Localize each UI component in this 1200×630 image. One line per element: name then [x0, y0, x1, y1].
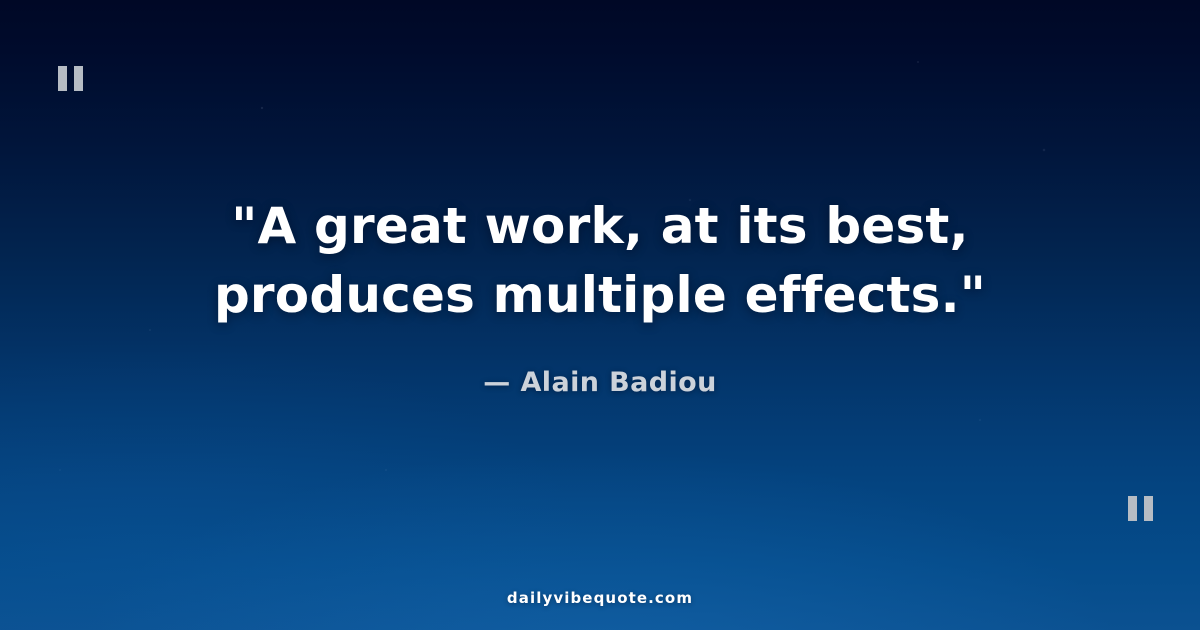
quote-content: "A great work, at its best, produces mul…: [0, 0, 1200, 630]
quote-card: "A great work, at its best, produces mul…: [0, 0, 1200, 630]
quote-mark-bar-right: [1144, 496, 1153, 521]
quote-mark-icon-bottom-right: [1128, 496, 1153, 521]
quote-mark-bar-left: [1128, 496, 1137, 521]
quote-text: "A great work, at its best, produces mul…: [95, 192, 1105, 330]
quote-mark-icon-top-left: [58, 66, 83, 91]
quote-mark-bar-left: [58, 66, 67, 91]
quote-mark-bar-right: [74, 66, 83, 91]
site-footer-url: dailyvibequote.com: [0, 589, 1200, 607]
quote-attribution: — Alain Badiou: [483, 367, 716, 398]
